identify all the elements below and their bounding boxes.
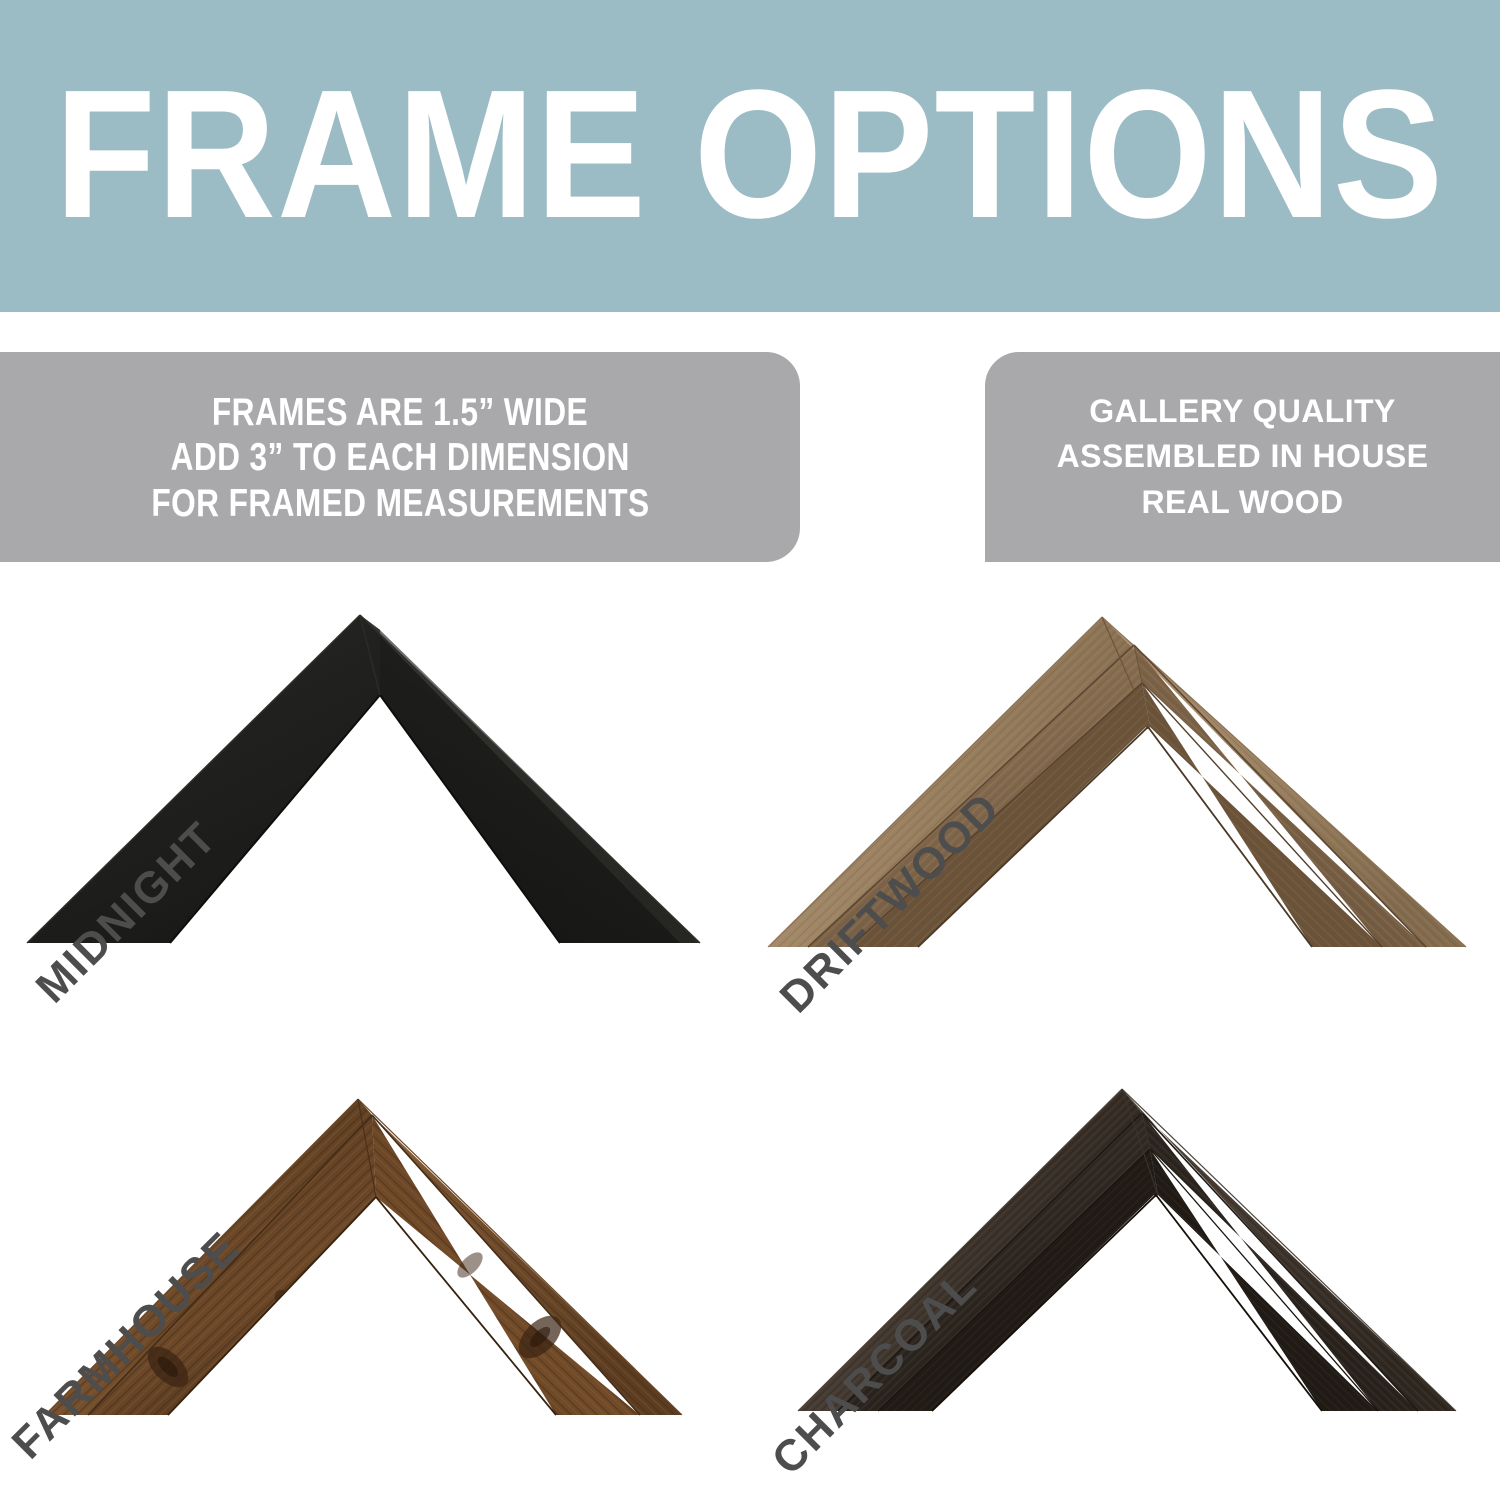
frame-sample-midnight[interactable]: MIDNIGHT (0, 575, 750, 1037)
measurements-line-2: ADD 3” TO EACH DIMENSION (170, 434, 629, 481)
gallery-quality-panel: GALLERY QUALITY ASSEMBLED IN HOUSE REAL … (985, 352, 1500, 562)
frame-sample-farmhouse[interactable]: FARMHOUSE (0, 1037, 750, 1499)
measurements-line-3: FOR FRAMED MEASUREMENTS (151, 479, 649, 526)
frame-sample-charcoal[interactable]: CHARCOAL (750, 1037, 1500, 1499)
quality-line-1: GALLERY QUALITY (1089, 391, 1395, 433)
frames-measurements-panel: FRAMES ARE 1.5” WIDE ADD 3” TO EACH DIME… (0, 352, 800, 562)
farmhouse-frame-corner-icon (0, 1037, 750, 1499)
measurements-line-1: FRAMES ARE 1.5” WIDE (212, 388, 588, 435)
page-title: FRAME OPTIONS (55, 62, 1444, 250)
frame-sample-driftwood[interactable]: DRIFTWOOD (750, 575, 1500, 1037)
driftwood-frame-corner-icon (750, 575, 1500, 1037)
quality-line-3: REAL WOOD (1141, 482, 1343, 524)
header-banner: FRAME OPTIONS (0, 0, 1500, 312)
quality-line-2: ASSEMBLED IN HOUSE (1057, 436, 1429, 478)
midnight-frame-corner-icon (0, 575, 750, 1037)
charcoal-frame-corner-icon (750, 1037, 1500, 1499)
frame-options-grid: MIDNIGHT (0, 575, 1500, 1500)
